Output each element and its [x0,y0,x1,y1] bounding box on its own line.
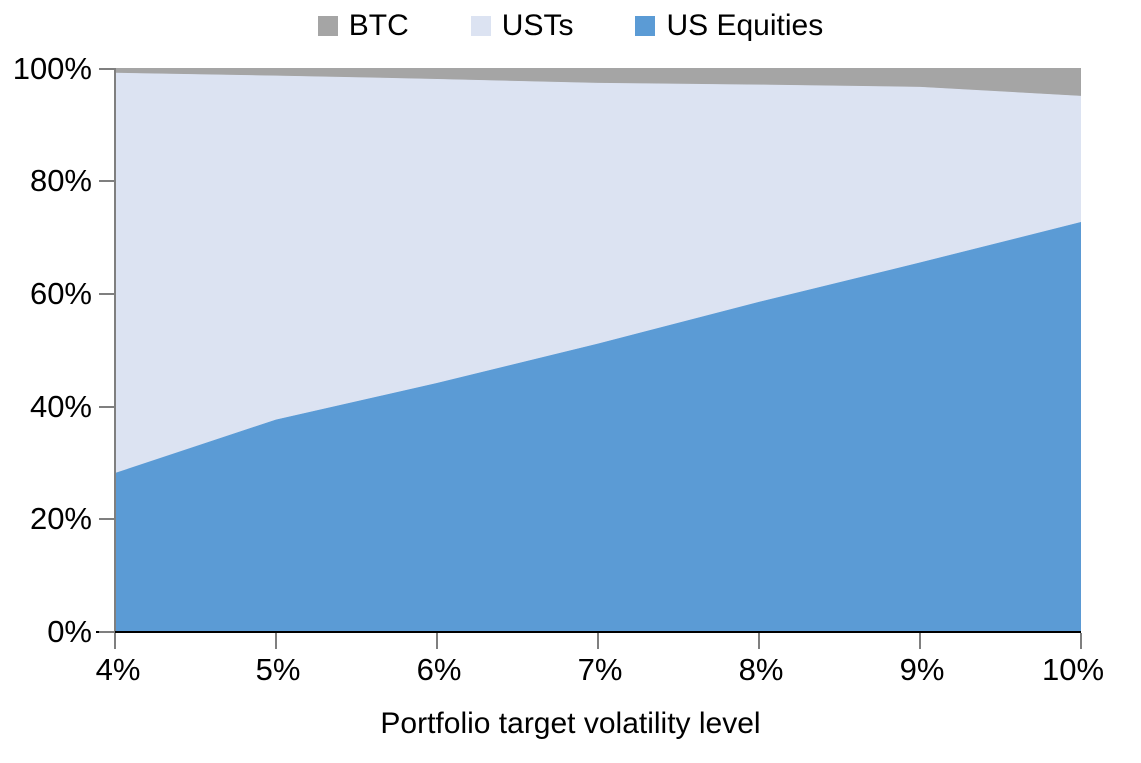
plot-area [115,68,1081,631]
legend-item-btc[interactable]: BTC [318,11,409,41]
x-tick-6 [436,633,438,649]
legend-item-us-equities[interactable]: US Equities [635,11,823,41]
x-axis-label-4: 4% [96,654,141,685]
y-axis-label-80: 80% [30,165,92,196]
y-axis-label-40: 40% [30,391,92,422]
x-axis-label-9: 9% [900,654,945,685]
y-tick-80 [99,180,115,182]
x-tick-4 [114,633,116,649]
x-tick-5 [275,633,277,649]
x-axis-label-6: 6% [417,654,462,685]
x-axis-label-5: 5% [256,654,301,685]
legend-swatch-usts [471,16,491,36]
y-tick-0 [99,631,115,633]
legend-item-usts[interactable]: USTs [471,11,574,41]
x-axis-label-8: 8% [739,654,784,685]
legend-label-usts: USTs [502,11,574,41]
legend-swatch-btc [318,16,338,36]
chart-legend: BTC USTs US Equities [0,6,1141,46]
y-tick-20 [99,518,115,520]
x-tick-7 [597,633,599,649]
y-tick-60 [99,293,115,295]
x-axis-label-7: 7% [578,654,623,685]
y-axis-label-60: 60% [30,278,92,309]
x-tick-9 [919,633,921,649]
y-axis-line [114,68,116,632]
legend-label-us-equities: US Equities [666,11,823,41]
legend-label-btc: BTC [349,11,409,41]
y-axis-label-20: 20% [30,503,92,534]
stacked-area-chart: BTC USTs US Equities 100% 80% 60% 40% 20… [0,0,1141,763]
y-axis-label-0: 0% [47,616,92,647]
x-tick-8 [758,633,760,649]
x-axis-label-10: 10% [1042,654,1104,685]
x-axis-title: Portfolio target volatility level [0,708,1141,740]
y-tick-100 [99,68,115,70]
y-tick-40 [99,406,115,408]
area-series-svg [115,68,1081,631]
x-tick-10 [1080,633,1082,649]
x-axis-line [96,631,1081,633]
legend-swatch-us-equities [635,16,655,36]
y-axis-label-100: 100% [13,53,92,84]
